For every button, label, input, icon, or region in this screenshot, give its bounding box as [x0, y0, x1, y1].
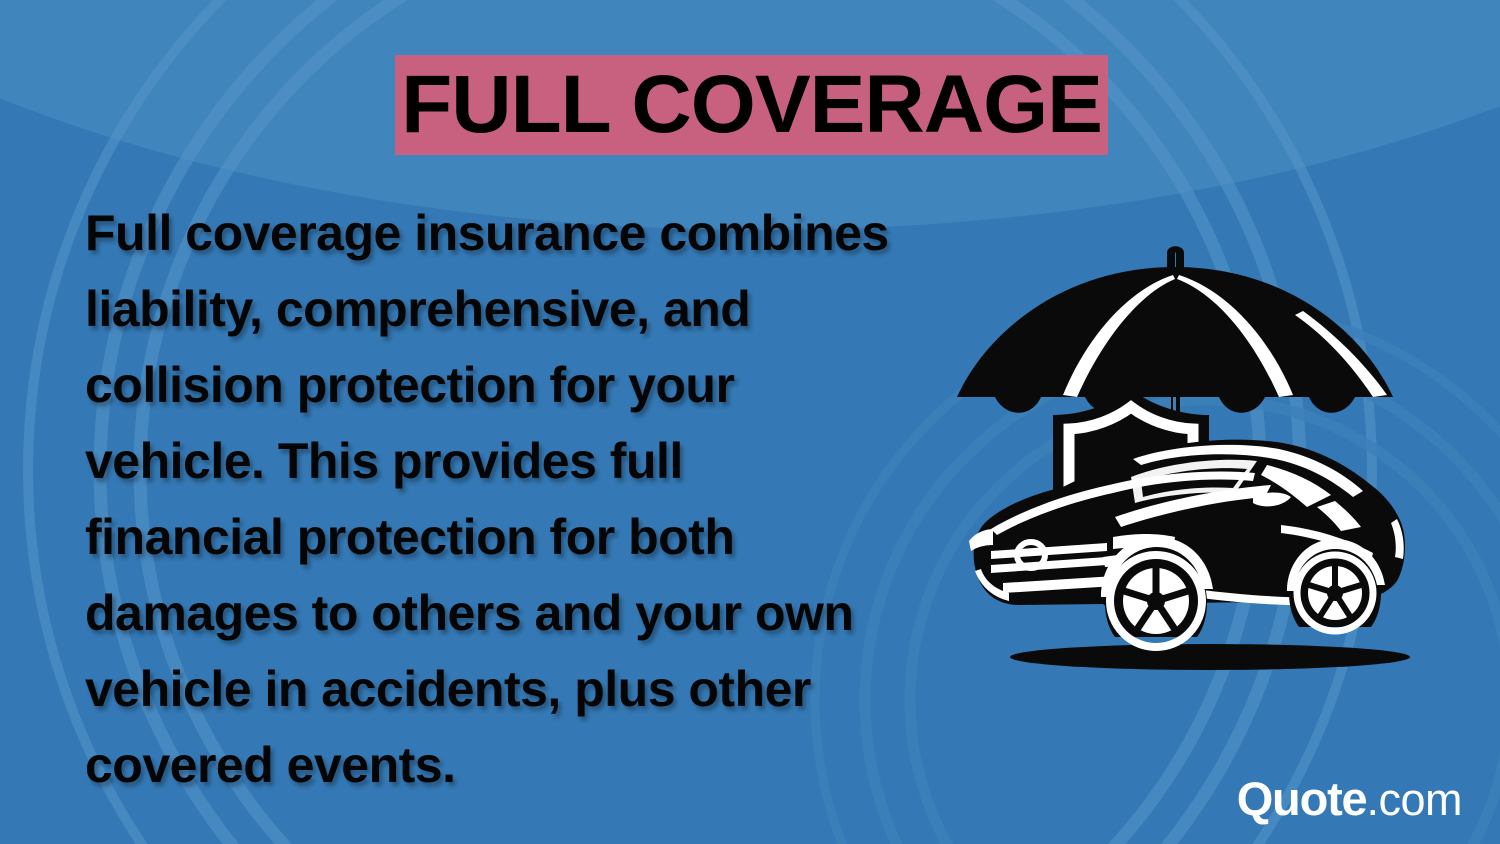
body-line: collision protection for your	[85, 347, 965, 423]
quote-com-logo[interactable]: Quote .com	[1237, 771, 1462, 826]
logo-tld-text: .com	[1366, 774, 1462, 826]
body-paragraph: Full coverage insurance combines liabili…	[85, 195, 965, 803]
body-line: vehicle. This provides full	[85, 423, 965, 499]
body-line: damages to others and your own	[85, 575, 965, 651]
page-title: FULL COVERAGE	[401, 64, 1102, 146]
title-banner: FULL COVERAGE	[395, 55, 1108, 155]
umbrella-shield-car-illustration	[935, 245, 1435, 685]
body-line: vehicle in accidents, plus other	[85, 651, 965, 727]
body-line: liability, comprehensive, and	[85, 271, 965, 347]
body-line: covered events.	[85, 727, 965, 803]
infographic-card: FULL COVERAGE Full coverage insurance co…	[0, 0, 1500, 844]
body-line: financial protection for both	[85, 499, 965, 575]
body-line: Full coverage insurance combines	[85, 195, 965, 271]
car-ground-shadow	[1010, 644, 1410, 670]
logo-brand-text: Quote	[1237, 771, 1367, 826]
car-icon	[969, 440, 1405, 647]
